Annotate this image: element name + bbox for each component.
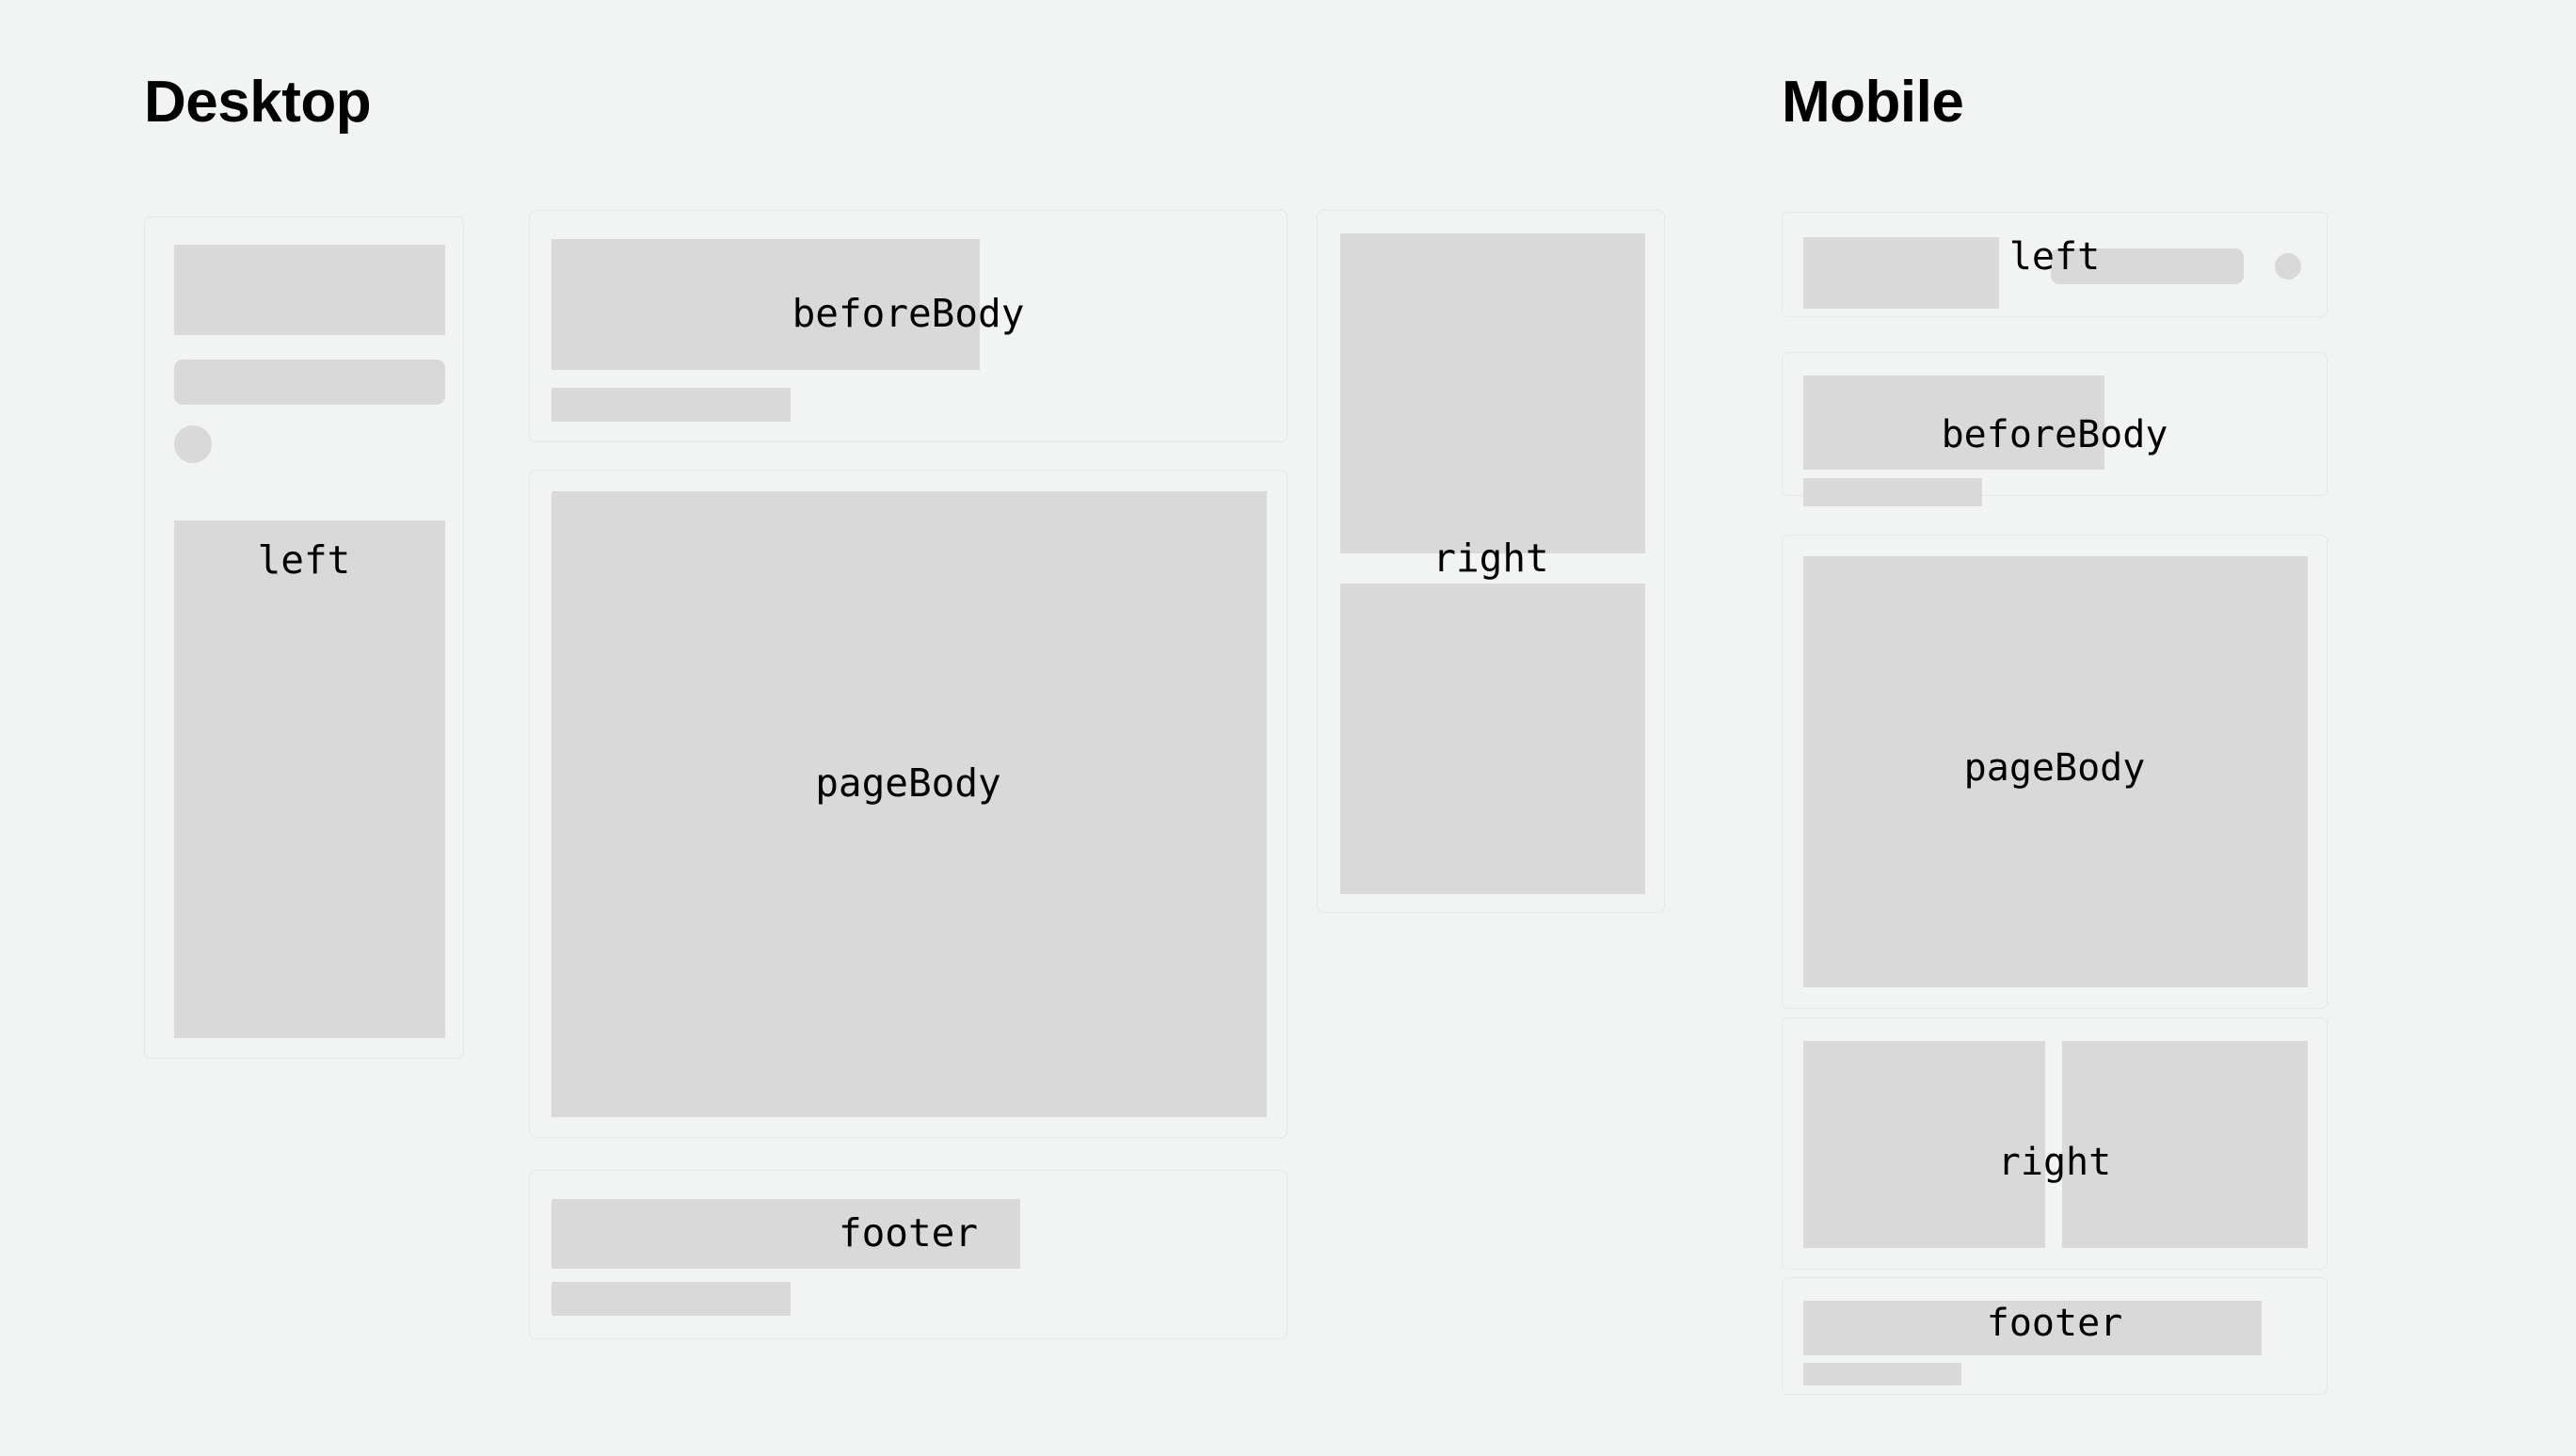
slot-label-desktop-beforebody: beforeBody (529, 295, 1288, 333)
skeleton-block-body (174, 520, 445, 1038)
slot-label-mobile-left: left (1782, 238, 2328, 276)
skeleton-block-bottom (1340, 584, 1645, 894)
skeleton-block-small (552, 1282, 791, 1316)
slot-label-desktop-right: right (1317, 539, 1665, 578)
skeleton-block-small (552, 388, 791, 422)
desktop-left-slot-panel[interactable] (144, 216, 464, 1059)
slot-label-mobile-pagebody: pageBody (1782, 749, 2328, 787)
skeleton-block-header (174, 245, 445, 335)
slot-label-mobile-beforebody: beforeBody (1782, 416, 2328, 454)
skeleton-block-small (1803, 478, 1982, 506)
skeleton-avatar-circle (174, 425, 212, 463)
skeleton-block-top (1340, 233, 1645, 553)
slot-label-mobile-footer: footer (1782, 1304, 2328, 1342)
slot-label-desktop-left: left (144, 541, 464, 580)
section-heading-desktop: Desktop (144, 73, 371, 132)
section-heading-mobile: Mobile (1782, 73, 1963, 132)
skeleton-block-small (1803, 1363, 1961, 1385)
slot-label-desktop-pagebody: pageBody (529, 764, 1288, 803)
skeleton-block-bar (174, 360, 445, 405)
slot-label-mobile-right: right (1782, 1144, 2328, 1181)
wireframe-stage: Desktop left beforeBody pageBody footer … (0, 0, 2576, 1456)
slot-label-desktop-footer: footer (529, 1214, 1288, 1253)
